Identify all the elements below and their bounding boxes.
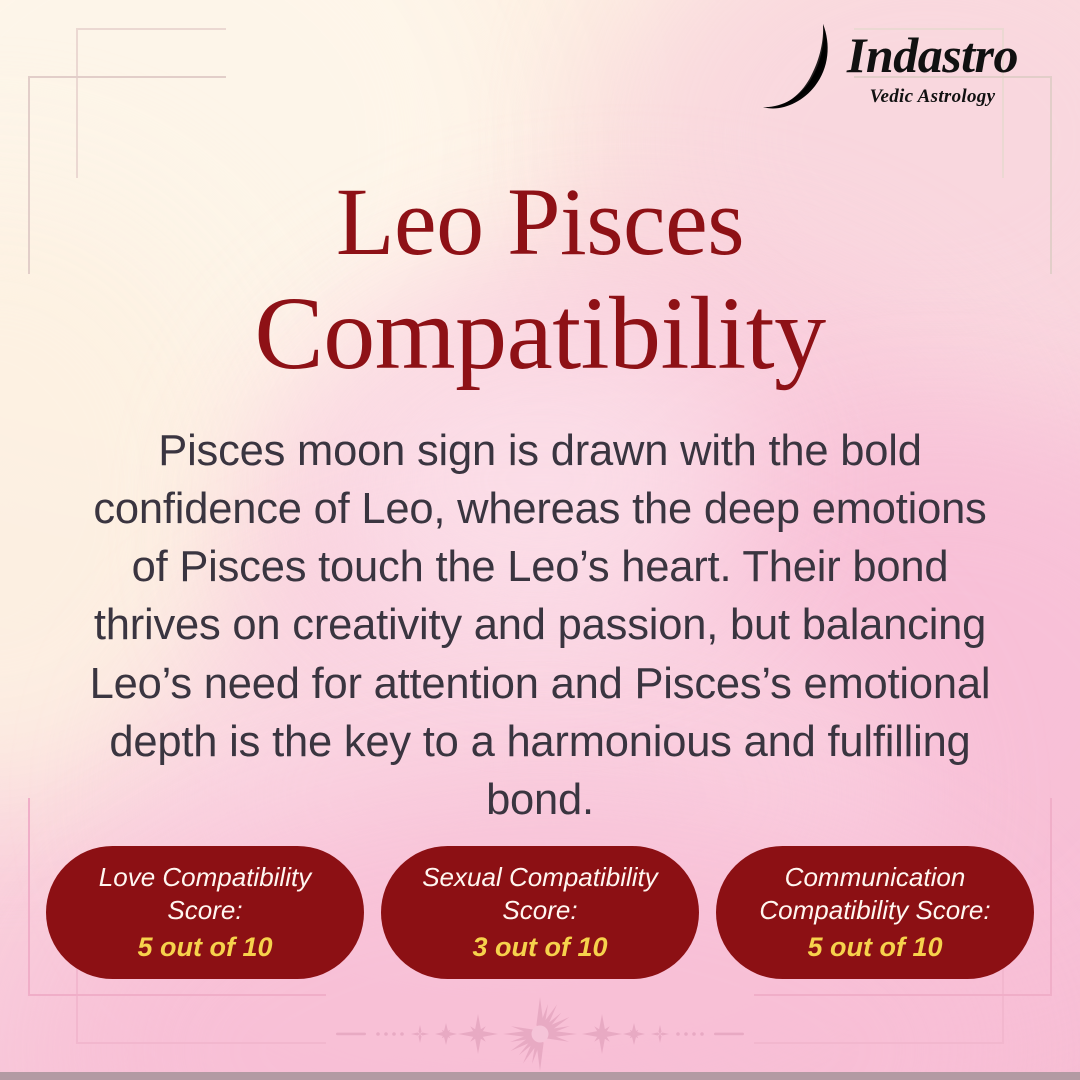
compatibility-scores: Love Compatibility Score: 5 out of 10 Se… bbox=[46, 846, 1034, 979]
score-value: 5 out of 10 bbox=[137, 931, 272, 963]
score-pill-communication: Communication Compatibility Score: 5 out… bbox=[716, 846, 1034, 979]
score-pill-sexual: Sexual Compatibility Score: 3 out of 10 bbox=[381, 846, 699, 979]
score-label: Sexual Compatibility Score: bbox=[422, 861, 658, 927]
brand-name: Indastro bbox=[847, 30, 1018, 80]
page-title: Leo Pisces Compatibility bbox=[0, 168, 1080, 392]
page-title-line-1: Leo Pisces bbox=[120, 168, 960, 276]
description-paragraph: Pisces moon sign is drawn with the bold … bbox=[70, 422, 1010, 830]
brand-wordmark: Indastro Vedic Astrology bbox=[847, 30, 1018, 106]
score-label: Communication Compatibility Score: bbox=[759, 861, 990, 927]
score-value: 3 out of 10 bbox=[472, 931, 607, 963]
compatibility-poster: Indastro Vedic Astrology Leo Pisces Comp… bbox=[0, 0, 1080, 1080]
crescent-moon-icon bbox=[761, 22, 843, 114]
page-title-line-2: Compatibility bbox=[120, 276, 960, 392]
bottom-strip bbox=[0, 1072, 1080, 1080]
brand-logo: Indastro Vedic Astrology bbox=[761, 22, 1018, 114]
score-label: Love Compatibility Score: bbox=[99, 861, 311, 927]
brand-tagline: Vedic Astrology bbox=[870, 87, 996, 106]
score-pill-love: Love Compatibility Score: 5 out of 10 bbox=[46, 846, 364, 979]
score-value: 5 out of 10 bbox=[807, 931, 942, 963]
